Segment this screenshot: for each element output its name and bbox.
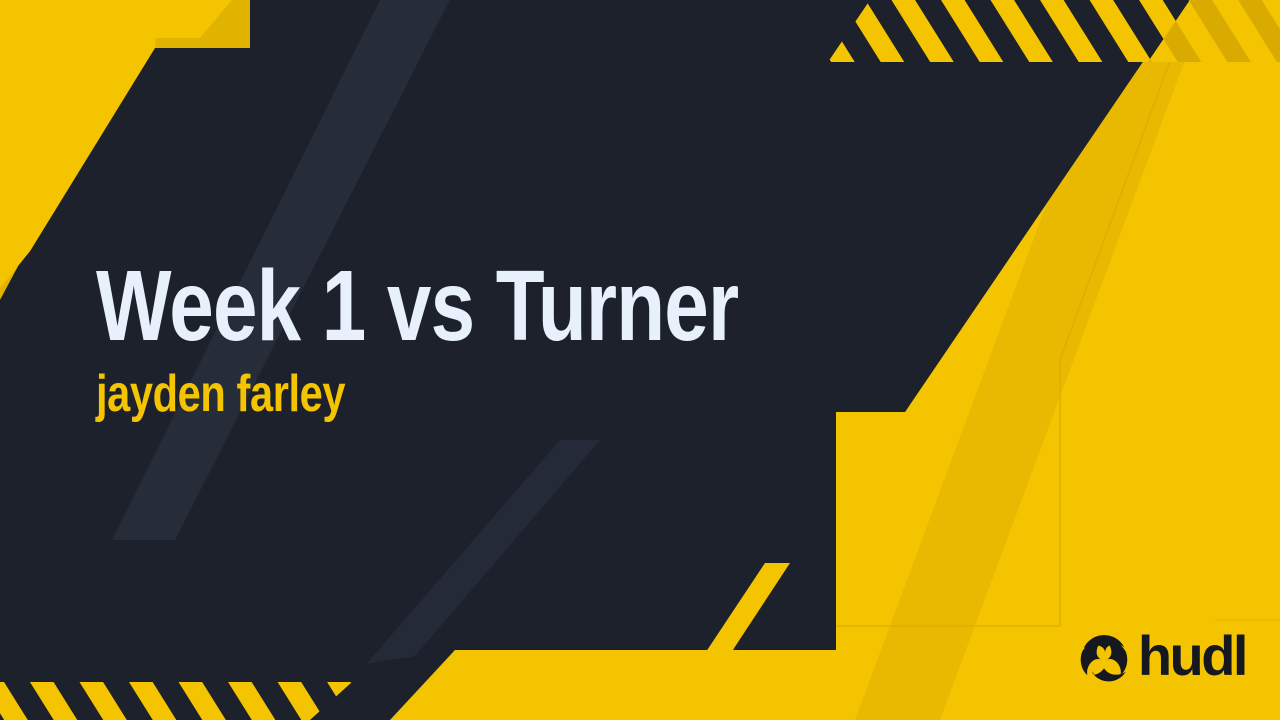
bottom-edge-yellow: [395, 650, 836, 720]
hazard-stripes-bottom-left: [0, 682, 352, 720]
hudl-mark-icon: [1078, 632, 1130, 684]
hazard-stripes-top-right: [828, 0, 1280, 62]
athlete-name: jayden farley: [96, 368, 768, 420]
title-block: Week 1 vs Turner jayden farley: [96, 258, 936, 420]
hudl-wordmark: hudl: [1138, 628, 1246, 684]
page-title: Week 1 vs Turner: [96, 258, 768, 354]
hudl-logo: hudl: [1078, 630, 1246, 686]
hudl-title-card: Week 1 vs Turner jayden farley hudl: [0, 0, 1280, 720]
